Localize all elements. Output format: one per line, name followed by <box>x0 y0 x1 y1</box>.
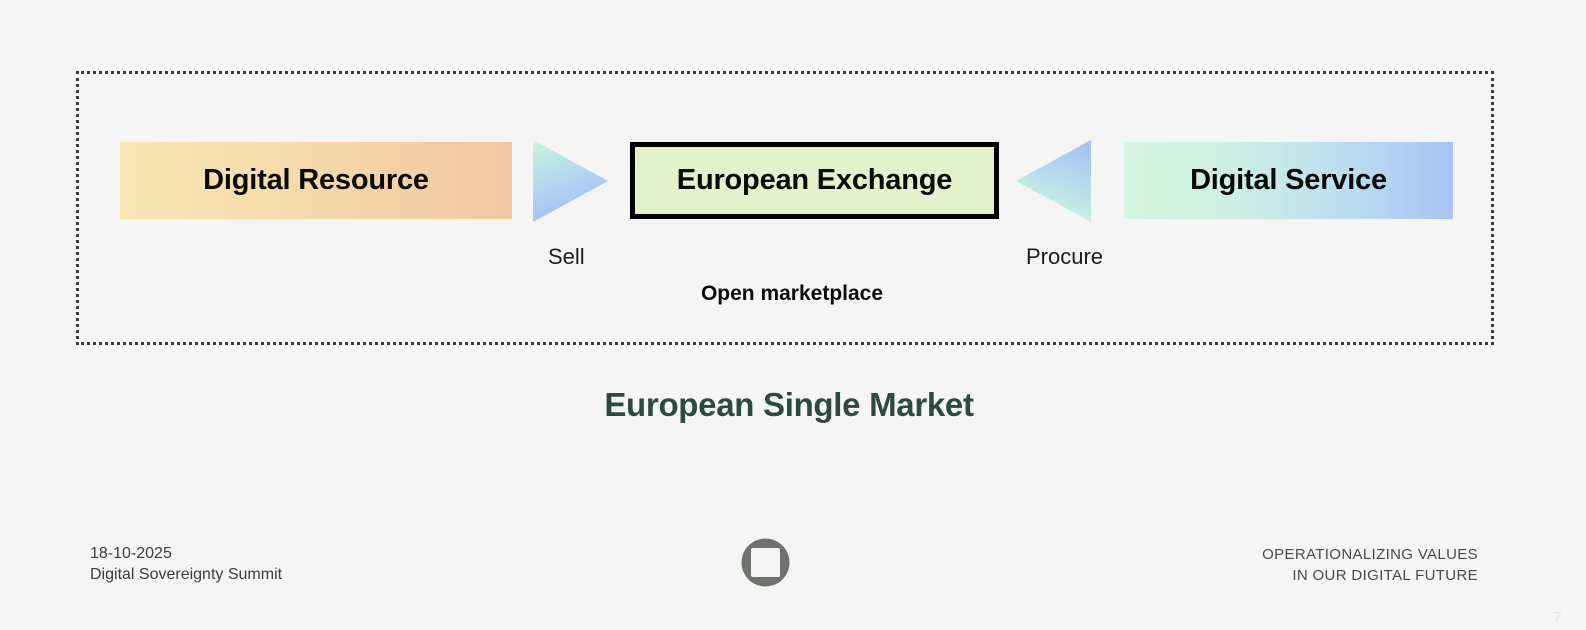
digital-resource-label: Digital Resource <box>203 165 429 197</box>
sell-label: Sell <box>548 244 585 270</box>
footer-tagline: OPERATIONALIZING VALUES IN OUR DIGITAL F… <box>1262 545 1478 586</box>
digital-service-label: Digital Service <box>1190 165 1387 197</box>
footer-date: 18-10-2025 <box>90 543 282 564</box>
footer-tagline-line2: IN OUR DIGITAL FUTURE <box>1262 566 1478 587</box>
footer-event: Digital Sovereignty Summit <box>90 564 282 585</box>
footer-meta: 18-10-2025 Digital Sovereignty Summit <box>90 543 282 585</box>
digital-resource-block[interactable]: Digital Resource <box>120 142 512 219</box>
open-marketplace-caption-text: Open marketplace <box>701 282 883 306</box>
circle-square-logo <box>741 538 790 587</box>
sell-arrow-icon <box>533 140 608 222</box>
page-number: 7 <box>1554 609 1562 626</box>
slide-canvas: Digital Resource Sell European Exchange <box>0 0 1586 630</box>
procure-label: Procure <box>1026 244 1103 270</box>
footer-tagline-line1: OPERATIONALIZING VALUES <box>1262 545 1478 566</box>
procure-arrow-icon <box>1016 140 1091 222</box>
european-single-market-title-text: European Single Market <box>604 386 973 424</box>
european-single-market-title: European Single Market <box>0 386 1586 424</box>
digital-service-block[interactable]: Digital Service <box>1124 142 1453 219</box>
european-exchange-block[interactable]: European Exchange <box>630 142 999 219</box>
european-exchange-label: European Exchange <box>677 165 952 197</box>
open-marketplace-caption: Open marketplace <box>0 282 1586 306</box>
